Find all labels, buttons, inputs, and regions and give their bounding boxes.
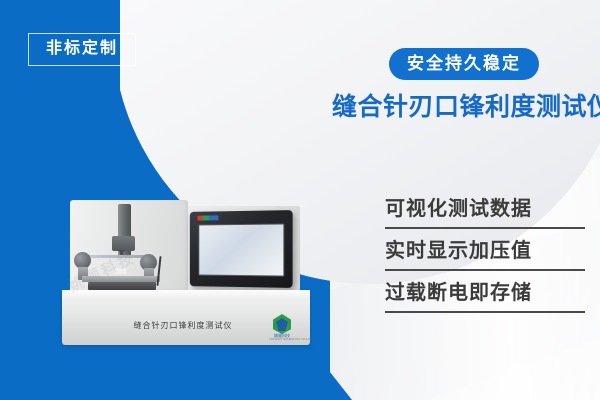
- product-headline: 缝合针刃口锋利度测试仪: [332, 92, 590, 122]
- hmi-touchscreen[interactable]: [198, 223, 284, 276]
- machine-load-head: [112, 236, 135, 251]
- feature-label: 实时显示加压值: [385, 240, 585, 263]
- feature-item: 可视化测试数据: [385, 198, 585, 229]
- machine-stage-base: [88, 282, 156, 290]
- custom-order-badge: 非标定制: [28, 33, 136, 66]
- product-banner: 非标定制 安全持久稳定 缝合针刃口锋利度测试仪 可视化测试数据 实时显示加压值 …: [0, 0, 600, 400]
- feature-item: 过载断电即存储: [385, 282, 585, 313]
- feature-label: 可视化测试数据: [385, 198, 585, 221]
- hmi-brand-strip-icon: [197, 215, 218, 220]
- feature-label: 过载断电即存储: [385, 282, 585, 305]
- product-machine-image: 缝合针刃口锋利度测试仪 姚顺科技 YAOSHUN TECHNOLOGY CO.,…: [62, 198, 310, 358]
- machine-front-label: 缝合针刃口锋利度测试仪: [108, 320, 258, 331]
- machine-brand-logo-icon: 姚顺科技 YAOSHUN TECHNOLOGY CO.,LTD: [269, 314, 295, 342]
- logo-company-subtext: YAOSHUN TECHNOLOGY CO.,LTD: [269, 338, 295, 341]
- feature-item: 实时显示加压值: [385, 240, 585, 271]
- reliability-pill-badge: 安全持久稳定: [389, 48, 539, 80]
- machine-sample-holder: [114, 268, 126, 274]
- feature-list: 可视化测试数据 实时显示加压值 过载断电即存储: [385, 198, 585, 313]
- machine-hmi-panel[interactable]: [190, 210, 293, 288]
- machine-body-top-edge: [62, 290, 310, 300]
